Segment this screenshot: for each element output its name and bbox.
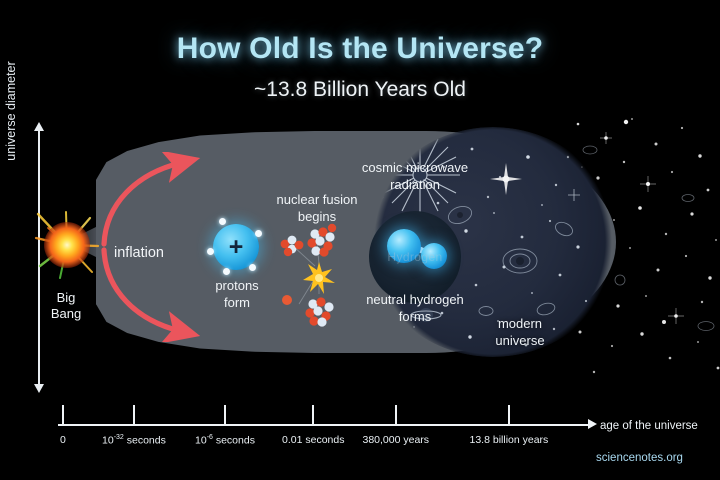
timeline-tick (133, 405, 135, 425)
bright-star (490, 163, 522, 195)
timeline-tick (62, 405, 64, 425)
timeline-tick-label: 10-6 seconds (195, 434, 255, 447)
protons-form-label: protons form (190, 278, 284, 311)
page-subtitle: ~13.8 Billion Years Old (0, 78, 720, 102)
age-of-universe-label: age of the universe (600, 420, 698, 432)
timeline-tick (395, 405, 397, 425)
timeline-tick (508, 405, 510, 425)
timeline-tick (312, 405, 314, 425)
modern-universe-label: modern universe (468, 316, 572, 350)
proton-illustration: + (205, 216, 267, 278)
timeline-tick-label: 0.01 seconds (282, 434, 344, 446)
nucleon-cluster-bottom (305, 297, 333, 326)
timeline-tick-label: 380,000 years (363, 434, 430, 446)
proton-dot (255, 230, 262, 237)
proton-dot (223, 268, 230, 275)
universe-diameter-label: universe diameter (4, 26, 18, 196)
nuclear-fusion-label: nuclear fusion begins (255, 192, 379, 225)
site-credit: sciencenotes.org (596, 452, 683, 464)
big-bang-burst (44, 222, 90, 268)
proton-dot (249, 264, 256, 271)
free-proton (282, 295, 292, 305)
neutral-hydrogen-label: neutral hydrogen forms (343, 292, 487, 325)
cosmic-microwave-radiation-label: cosmic microwave radiation (344, 160, 486, 193)
infographic-canvas: How Old Is the Universe? ~13.8 Billion Y… (0, 0, 720, 480)
timeline-arrowhead (588, 419, 597, 429)
nucleon-cluster-top (307, 224, 336, 257)
timeline-tick (224, 405, 226, 425)
proton-dot (219, 218, 226, 225)
hydrogen-watermark: Hydrogen (369, 250, 461, 264)
inflation-label: inflation (96, 245, 182, 261)
nucleon-cluster-left (281, 236, 304, 257)
age-timeline-axis (58, 424, 592, 426)
page-title: How Old Is the Universe? (0, 32, 720, 66)
timeline-tick-label: 10-32 seconds (102, 434, 166, 447)
big-bang-label: Big Bang (24, 290, 108, 323)
timeline-tick-label: 13.8 billion years (470, 434, 549, 446)
timeline-tick-label: 0 (60, 434, 66, 446)
proton-dot (207, 248, 214, 255)
